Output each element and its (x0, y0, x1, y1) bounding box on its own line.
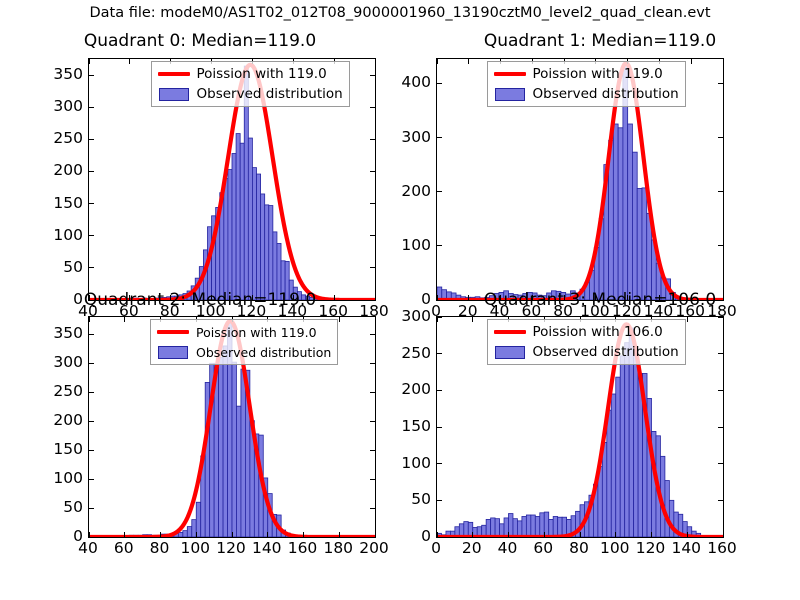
plot-area-quadrant-0: Poission with 119.0Observed distribution (88, 58, 376, 301)
y-tick-label: 50 (63, 498, 83, 516)
y-tick-mark (437, 83, 442, 84)
histogram-bar (491, 518, 495, 537)
line-swatch-icon (493, 66, 527, 82)
y-tick-label: 200 (53, 411, 83, 429)
histogram-bar (549, 519, 553, 537)
plot-area-quadrant-3: Poission with 106.0Observed distribution (436, 316, 724, 538)
histogram-bar (642, 188, 647, 300)
y-tick-mark-right (370, 203, 375, 204)
plot-area-quadrant-1: Poission with 119.0Observed distribution (436, 58, 724, 301)
plot-area-quadrant-2: Poission with 119.0Observed distribution (88, 316, 376, 538)
legend-item-observed[interactable]: Observed distribution (493, 343, 679, 361)
y-tick-mark-right (718, 427, 723, 428)
y-tick-label: 300 (53, 353, 83, 371)
histogram-bar (602, 442, 606, 537)
x-tick-mark (160, 532, 161, 537)
x-tick-mark-top (691, 59, 692, 64)
histogram-bar (196, 502, 200, 537)
x-tick-mark (124, 532, 125, 537)
x-tick-label: 80 (569, 539, 589, 557)
histogram-bar (517, 521, 521, 537)
histogram-bar (232, 362, 236, 537)
panel-quadrant-2: Quadrant 2: Median=119.0 Poission with 1… (0, 288, 400, 578)
histogram-bar (224, 179, 228, 300)
legend[interactable]: Poission with 119.0Observed distribution (150, 319, 338, 365)
y-tick-mark-right (370, 107, 375, 108)
x-tick-mark-top (723, 317, 724, 322)
y-tick-mark (89, 363, 94, 364)
y-tick-mark-right (370, 363, 375, 364)
y-tick-mark-right (718, 390, 723, 391)
y-tick-mark (89, 508, 94, 509)
histogram-bar (526, 515, 530, 537)
x-tick-mark (580, 532, 581, 537)
y-tick-mark (437, 137, 442, 138)
histogram-bar (618, 128, 623, 300)
legend-label-observed: Observed distribution (533, 86, 679, 102)
x-tick-label: 80 (150, 539, 170, 557)
histogram-bar (219, 358, 223, 537)
line-swatch-icon (157, 66, 191, 82)
y-tick-mark-right (370, 139, 375, 140)
y-tick-mark-right (370, 508, 375, 509)
y-tick-label: 250 (53, 129, 83, 147)
histogram-bar (620, 356, 624, 537)
legend[interactable]: Poission with 119.0Observed distribution (487, 61, 686, 107)
histogram-bar (522, 516, 526, 537)
y-tick-mark (437, 463, 442, 464)
y-tick-label: 100 (53, 226, 83, 244)
y-tick-mark-right (370, 421, 375, 422)
y-tick-mark (89, 107, 94, 108)
x-tick-label: 120 (216, 539, 246, 557)
panel-title-quadrant-1: Quadrant 1: Median=119.0 (400, 31, 800, 51)
y-tick-mark (89, 235, 94, 236)
x-tick-label: 100 (180, 539, 210, 557)
figure-suptitle: Data file: modeM0/AS1T02_012T08_90000019… (0, 5, 800, 21)
x-tick-label: 40 (498, 539, 518, 557)
bar-swatch-icon (493, 86, 527, 102)
panel-title-quadrant-0: Quadrant 0: Median=119.0 (0, 31, 400, 51)
figure-canvas: Data file: modeM0/AS1T02_012T08_90000019… (0, 0, 800, 600)
y-tick-label: 300 (401, 307, 431, 325)
y-tick-mark (437, 317, 442, 318)
panel-title-quadrant-3: Quadrant 3: Median=106.0 (400, 290, 800, 310)
histogram-bar (486, 519, 490, 537)
histogram-bar (628, 124, 633, 300)
x-tick-mark-top (339, 317, 340, 322)
y-tick-mark (437, 500, 442, 501)
histogram-bar (178, 532, 182, 537)
panel-quadrant-0: Quadrant 0: Median=119.0 Poission with 1… (0, 28, 400, 300)
histogram-bar (607, 410, 611, 537)
y-tick-mark-right (718, 245, 723, 246)
y-tick-mark-right (718, 537, 723, 538)
legend-label-poisson: Poission with 106.0 (533, 324, 663, 340)
y-tick-label: 200 (401, 182, 431, 200)
x-tick-mark-top (375, 317, 376, 322)
y-tick-label: 250 (401, 344, 431, 362)
line-swatch-icon (493, 324, 527, 340)
y-tick-label: 350 (53, 324, 83, 342)
y-tick-mark (89, 139, 94, 140)
y-tick-mark (89, 450, 94, 451)
histogram-bar (248, 138, 252, 300)
y-tick-mark-right (718, 83, 723, 84)
x-tick-mark-top (437, 59, 438, 64)
histogram-bar (236, 406, 240, 537)
histogram-bar (634, 349, 638, 537)
panel-quadrant-1: Quadrant 1: Median=119.0 Poission with 1… (400, 28, 800, 300)
y-tick-label: 0 (421, 527, 431, 545)
y-tick-mark (437, 353, 442, 354)
x-tick-mark (687, 532, 688, 537)
histogram-bar (495, 519, 499, 537)
y-tick-label: 150 (53, 440, 83, 458)
y-tick-mark (437, 427, 442, 428)
histogram-bar (236, 134, 240, 300)
histogram-bar (265, 205, 269, 300)
y-tick-mark (89, 479, 94, 480)
y-tick-mark (89, 267, 94, 268)
y-tick-mark-right (718, 317, 723, 318)
x-tick-mark (472, 532, 473, 537)
y-tick-mark (437, 191, 442, 192)
x-tick-mark (232, 532, 233, 537)
y-tick-label: 200 (401, 380, 431, 398)
y-tick-label: 250 (53, 382, 83, 400)
bar-swatch-icon (156, 344, 190, 360)
x-tick-label: 120 (636, 539, 666, 557)
x-tick-mark-top (723, 59, 724, 64)
y-tick-mark-right (718, 353, 723, 354)
histogram-bar (625, 343, 629, 537)
panel-quadrant-3: Quadrant 3: Median=106.0 Poission with 1… (400, 288, 800, 578)
y-tick-mark-right (370, 392, 375, 393)
x-tick-mark-top (375, 59, 376, 64)
y-tick-label: 200 (53, 161, 83, 179)
histogram-bar (187, 527, 191, 537)
histogram-bar (613, 124, 618, 300)
histogram-bar (509, 514, 513, 537)
y-tick-label: 300 (53, 97, 83, 115)
x-tick-mark-top (687, 317, 688, 322)
y-tick-mark-right (370, 267, 375, 268)
y-tick-mark (437, 245, 442, 246)
y-tick-mark-right (370, 537, 375, 538)
y-tick-label: 300 (401, 128, 431, 146)
bar-swatch-icon (493, 344, 527, 360)
x-tick-label: 20 (462, 539, 482, 557)
legend-label-observed: Observed distribution (196, 345, 331, 360)
y-tick-label: 0 (73, 527, 83, 545)
bar-swatch-icon (157, 86, 191, 102)
legend-item-poisson[interactable]: Poission with 119.0 (157, 65, 343, 83)
histogram-bar (464, 522, 468, 537)
x-tick-label: 60 (533, 539, 553, 557)
y-tick-mark-right (718, 137, 723, 138)
x-tick-mark (196, 532, 197, 537)
x-tick-mark (615, 532, 616, 537)
line-swatch-icon (156, 324, 190, 340)
histogram-bar (257, 174, 261, 300)
histogram-bar (241, 369, 245, 537)
x-tick-mark-top (89, 59, 90, 64)
legend-item-poisson[interactable]: Poission with 119.0 (493, 65, 679, 83)
y-tick-mark-right (718, 500, 723, 501)
legend-item-observed[interactable]: Observed distribution (493, 85, 679, 103)
histogram-bar (531, 515, 535, 537)
y-tick-label: 150 (401, 417, 431, 435)
x-tick-mark-top (89, 317, 90, 322)
x-tick-mark (544, 532, 545, 537)
x-tick-label: 140 (671, 539, 701, 557)
legend-item-observed[interactable]: Observed distribution (157, 85, 343, 103)
y-tick-mark-right (718, 463, 723, 464)
panel-title-quadrant-2: Quadrant 2: Median=119.0 (0, 290, 400, 310)
x-tick-mark (303, 532, 304, 537)
x-tick-mark-top (437, 317, 438, 322)
y-tick-mark-right (718, 191, 723, 192)
x-tick-label: 100 (600, 539, 630, 557)
y-tick-mark (89, 537, 94, 538)
histogram-bar (544, 512, 548, 537)
x-tick-label: 160 (707, 539, 737, 557)
y-tick-mark-right (370, 171, 375, 172)
x-tick-mark (267, 532, 268, 537)
histogram-bar (616, 377, 620, 537)
y-tick-label: 50 (411, 490, 431, 508)
y-tick-mark (89, 421, 94, 422)
histogram-bar (637, 188, 642, 300)
x-tick-mark (651, 532, 652, 537)
histogram-bar (183, 531, 187, 537)
y-tick-label: 150 (53, 194, 83, 212)
histogram-bar (261, 194, 265, 300)
legend-item-observed[interactable]: Observed distribution (156, 343, 331, 361)
y-tick-mark (437, 537, 442, 538)
x-tick-label: 60 (114, 539, 134, 557)
y-tick-mark-right (370, 450, 375, 451)
x-tick-mark-top (129, 59, 130, 64)
histogram-bar (553, 516, 557, 537)
y-tick-label: 100 (401, 454, 431, 472)
legend[interactable]: Poission with 106.0Observed distribution (487, 319, 686, 365)
histogram-bar (228, 170, 232, 300)
x-tick-mark-top (124, 317, 125, 322)
y-tick-mark (89, 334, 94, 335)
legend-label-poisson: Poission with 119.0 (196, 325, 317, 340)
y-tick-mark-right (370, 479, 375, 480)
histogram-bar (252, 168, 256, 300)
x-tick-label: 140 (252, 539, 282, 557)
y-tick-label: 50 (63, 258, 83, 276)
y-tick-mark (437, 390, 442, 391)
y-tick-label: 100 (401, 236, 431, 254)
legend-item-poisson[interactable]: Poission with 106.0 (493, 323, 679, 341)
y-tick-mark (89, 203, 94, 204)
y-tick-mark (89, 392, 94, 393)
y-tick-mark (89, 75, 94, 76)
y-tick-label: 350 (53, 65, 83, 83)
histogram-bar (232, 153, 236, 300)
y-tick-mark-right (370, 334, 375, 335)
legend-label-poisson: Poission with 119.0 (197, 66, 327, 82)
legend-label-observed: Observed distribution (197, 86, 343, 102)
histogram-bar (535, 516, 539, 537)
x-tick-label: 0 (431, 539, 441, 557)
y-tick-mark-right (370, 235, 375, 236)
x-tick-mark (339, 532, 340, 537)
x-tick-label: 180 (323, 539, 353, 557)
y-tick-mark-right (370, 75, 375, 76)
histogram-bar (558, 517, 562, 537)
histogram-bar (269, 206, 273, 300)
legend-label-poisson: Poission with 119.0 (533, 66, 663, 82)
legend-item-poisson[interactable]: Poission with 119.0 (156, 323, 331, 341)
x-tick-label: 160 (288, 539, 318, 557)
histogram-bar (513, 519, 517, 537)
legend-label-observed: Observed distribution (533, 344, 679, 360)
x-tick-mark-top (468, 59, 469, 64)
histogram-bar (240, 143, 244, 300)
y-tick-label: 400 (401, 73, 431, 91)
histogram-bar (611, 394, 615, 537)
legend[interactable]: Poission with 119.0Observed distribution (151, 61, 350, 107)
x-tick-mark-top (472, 317, 473, 322)
y-tick-mark (89, 171, 94, 172)
histogram-bar (223, 346, 227, 537)
histogram-bar (632, 152, 637, 300)
x-tick-label: 200 (359, 539, 389, 557)
x-tick-mark (508, 532, 509, 537)
y-tick-label: 100 (53, 469, 83, 487)
